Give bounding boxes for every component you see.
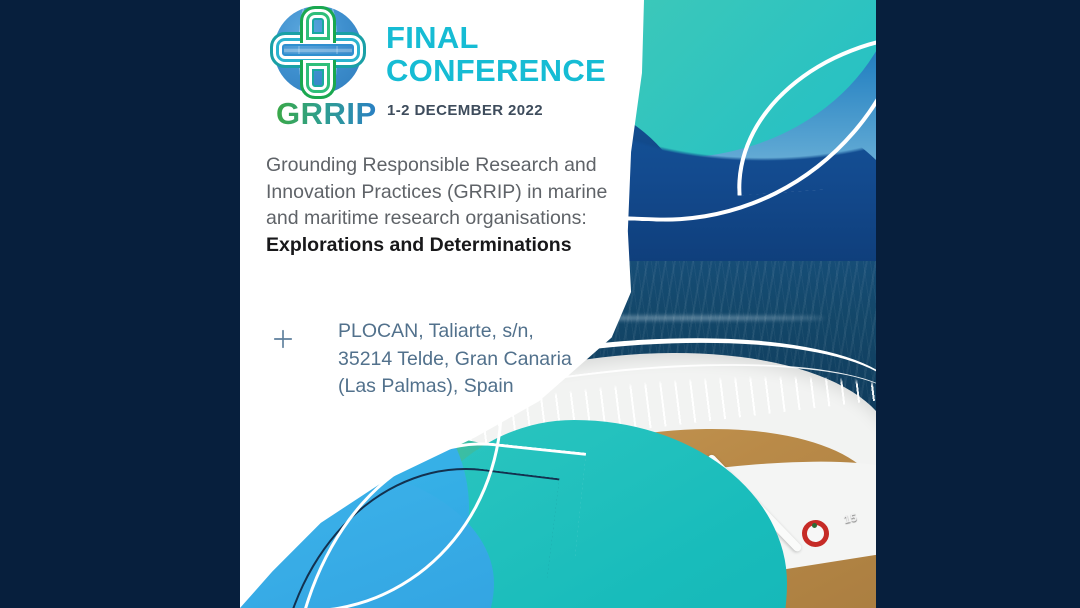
conference-date: 1-2 DECEMBER 2022 — [387, 102, 543, 119]
description-regular: Grounding Responsible Research and Innov… — [266, 154, 607, 229]
conference-poster: 15 — [240, 0, 876, 608]
conference-title: FINAL CONFERENCE — [386, 22, 606, 87]
deck-marker-dot — [812, 523, 817, 528]
venue-address-line3: (Las Palmas), Spain — [338, 373, 638, 401]
interlocking-cross-icon — [264, 4, 364, 100]
cross-vertical-top — [300, 6, 336, 43]
plus-location-icon — [272, 328, 294, 350]
poster-header: GRRIP FINAL CONFERENCE 1-2 DECEMBER 2022 — [264, 4, 624, 132]
conference-description: Grounding Responsible Research and Innov… — [266, 152, 616, 258]
cross-vertical-bottom — [300, 60, 336, 99]
venue-address: PLOCAN, Taliarte, s/n, 35214 Telde, Gran… — [338, 318, 638, 401]
grrip-wordmark: GRRIP — [276, 96, 377, 132]
grrip-logo-icon — [264, 4, 364, 100]
description-bold: Explorations and Determinations — [266, 234, 572, 256]
venue-address-line2: 35214 Telde, Gran Canaria — [338, 346, 638, 374]
conference-title-line2: CONFERENCE — [386, 55, 606, 88]
screenshot-canvas: 15 — [0, 0, 1080, 608]
venue-address-line1: PLOCAN, Taliarte, s/n, — [338, 318, 638, 346]
conference-title-line1: FINAL — [386, 22, 606, 55]
